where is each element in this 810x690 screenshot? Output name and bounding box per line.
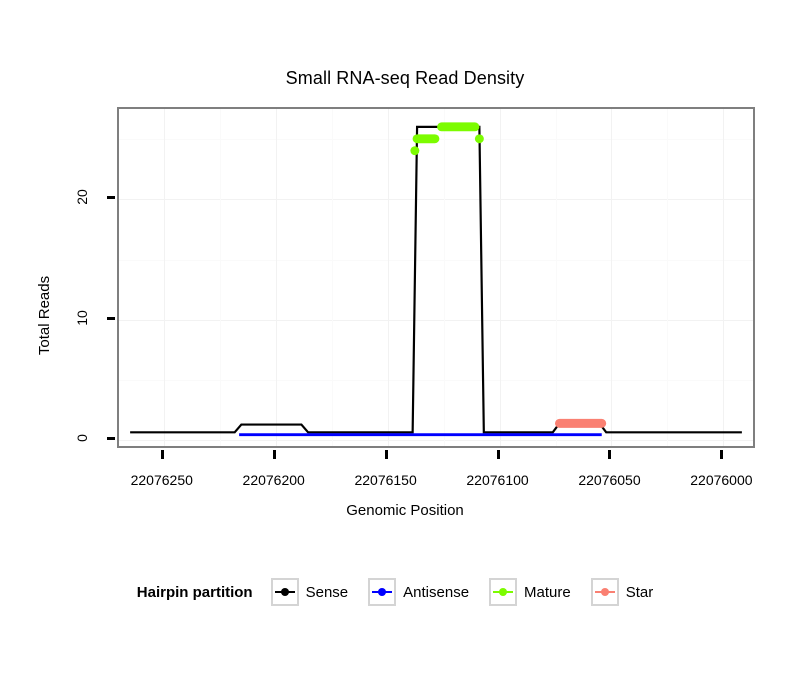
series-line (130, 127, 742, 432)
x-axis-tick-label: 22076100 (438, 472, 558, 488)
x-axis-tick (608, 450, 611, 459)
y-axis-title: Total Reads (34, 180, 56, 450)
series-sense (130, 127, 742, 432)
plot-panel (117, 107, 755, 448)
legend-key-swatch (271, 578, 299, 606)
y-axis-tick-label-text: 20 (74, 190, 90, 206)
legend-item-label: Mature (524, 584, 571, 601)
legend-key-dot (499, 588, 507, 596)
legend-item-label: Sense (306, 584, 349, 601)
y-axis-tick (107, 317, 115, 320)
legend-key-dot (378, 588, 386, 596)
y-axis-tick (107, 437, 115, 440)
legend-item-star[interactable]: Star (591, 578, 666, 606)
legend-key-swatch (591, 578, 619, 606)
legend: Hairpin partition SenseAntisenseMatureSt… (0, 578, 810, 606)
legend-key-dot (601, 588, 609, 596)
x-axis-tick (497, 450, 500, 459)
legend-item-label: Star (626, 584, 654, 601)
legend-items: SenseAntisenseMatureStar (271, 578, 674, 606)
x-axis-tick-label: 22076150 (326, 472, 446, 488)
x-axis-tick (161, 450, 164, 459)
legend-item-sense[interactable]: Sense (271, 578, 361, 606)
x-axis-title: Genomic Position (0, 502, 810, 519)
legend-key-dot (281, 588, 289, 596)
x-axis-tick-label: 22076000 (661, 472, 781, 488)
legend-item-antisense[interactable]: Antisense (368, 578, 481, 606)
x-axis-tick (720, 450, 723, 459)
chart-figure: Small RNA-seq Read Density Total Reads G… (0, 0, 810, 690)
plot-area (119, 109, 753, 446)
x-axis-tick-label: 22076250 (102, 472, 222, 488)
legend-key-swatch (489, 578, 517, 606)
y-axis-tick (107, 196, 115, 199)
x-axis-tick (273, 450, 276, 459)
legend-key-swatch (368, 578, 396, 606)
y-axis-tick-label-text: 0 (74, 434, 90, 442)
chart-title: Small RNA-seq Read Density (0, 68, 810, 89)
y-axis-title-text: Total Reads (37, 275, 54, 354)
data-series-layer (119, 109, 753, 446)
y-axis-tick-label-text: 10 (74, 310, 90, 326)
y-axis-tick-label: 10 (62, 309, 102, 327)
x-axis-tick-label: 22076200 (214, 472, 334, 488)
x-axis-tick-label: 22076050 (549, 472, 669, 488)
legend-item-label: Antisense (403, 584, 469, 601)
legend-item-mature[interactable]: Mature (489, 578, 583, 606)
y-axis-tick-label: 0 (62, 429, 102, 447)
legend-title: Hairpin partition (137, 584, 253, 601)
y-axis-tick-label: 20 (62, 188, 102, 206)
x-axis-tick (385, 450, 388, 459)
series-mature (415, 127, 480, 151)
